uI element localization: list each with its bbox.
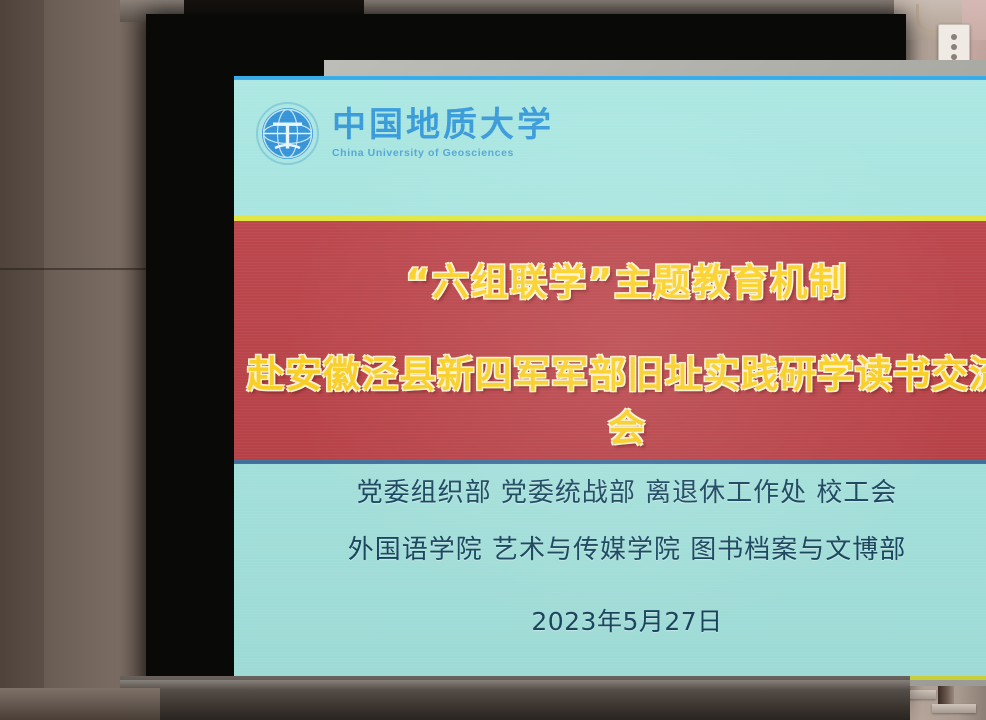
band-top-rule [234, 216, 986, 221]
emblem-globe-icon [262, 108, 313, 159]
switch-dot-2[interactable] [951, 44, 957, 50]
switch-dot-1[interactable] [951, 34, 957, 40]
left-wall-seam [0, 268, 152, 270]
bottom-left-ledge [0, 688, 160, 720]
slide-title: “六组联学”主题教育机制 赴安徽泾县新四军军部旧址实践研学读书交流会 [234, 252, 986, 452]
title-line-2: 赴安徽泾县新四军军部旧址实践研学读书交流会 [234, 344, 986, 452]
title-band: “六组联学”主题教育机制 赴安徽泾县新四军军部旧址实践研学读书交流会 [234, 216, 986, 464]
slide-footer: 党委组织部 党委统战部 离退休工作处 校工会 外国语学院 艺术与传媒学院 图书档… [234, 472, 986, 638]
conference-room-scene: 中国地质大学 China University of Geosciences “… [0, 0, 986, 720]
slide-top-accent-line [234, 76, 986, 80]
left-wall-panel [0, 0, 44, 720]
wall-shelf-lower [932, 704, 976, 713]
slide-date: 2023年5月27日 [234, 602, 986, 638]
organizer-line-2: 外国语学院 艺术与传媒学院 图书档案与文博部 [234, 529, 986, 566]
university-name-en: China University of Geosciences [332, 147, 554, 159]
organizer-line-1: 党委组织部 党委统战部 离退休工作处 校工会 [234, 472, 986, 509]
bottom-rail-highlight [120, 680, 910, 690]
university-logo: 中国地质大学 China University of Geosciences [256, 102, 554, 165]
university-emblem-icon [256, 102, 319, 165]
presentation-slide: 中国地质大学 China University of Geosciences “… [234, 76, 986, 680]
university-name-cn: 中国地质大学 [332, 108, 554, 144]
ceiling-recess [184, 0, 364, 14]
band-bottom-rule [234, 460, 986, 464]
university-wordmark: 中国地质大学 China University of Geosciences [332, 108, 554, 159]
projector-screen-frame: 中国地质大学 China University of Geosciences “… [146, 14, 906, 696]
title-line-1: “六组联学”主题教育机制 [234, 252, 986, 306]
